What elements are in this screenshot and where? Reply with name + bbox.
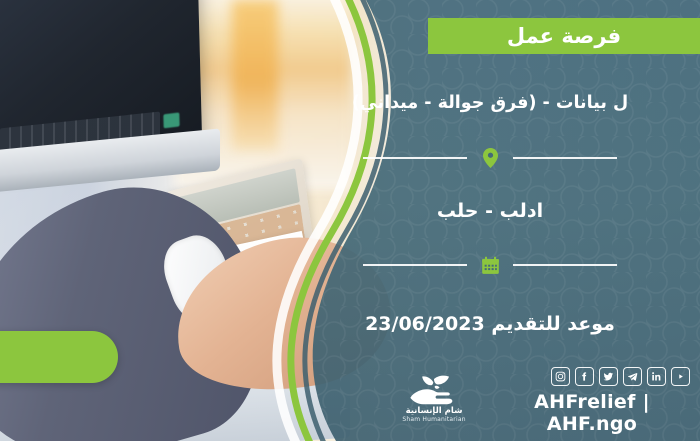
divider-line-right-2 [363, 264, 467, 266]
job-opportunity-ribbon: فرصة عمل [428, 18, 700, 54]
job-opportunity-poster: فرصة عمل ل بيانات - (فرق جوالة - ميداني)… [0, 0, 700, 441]
apply-now-button[interactable]: تقدم الآ [0, 331, 118, 383]
poster-content: فرصة عمل ل بيانات - (فرق جوالة - ميداني)… [280, 0, 700, 441]
hand-with-leaves-logo-icon [408, 375, 460, 405]
social-links[interactable] [551, 367, 690, 386]
divider-line-left [513, 157, 617, 159]
linkedin-icon[interactable] [647, 367, 666, 386]
location-divider-row [280, 149, 700, 167]
location-pin-icon [479, 146, 501, 170]
youtube-icon[interactable] [671, 367, 690, 386]
divider-line-right [363, 157, 467, 159]
ribbon-label: فرصة عمل [507, 24, 621, 48]
deadline-divider-row [280, 256, 700, 274]
instagram-icon[interactable] [551, 367, 570, 386]
organization-logo: شام الإنسانية Sham Humanitarian [390, 369, 478, 423]
facebook-icon[interactable] [575, 367, 594, 386]
job-title: ل بيانات - (فرق جوالة - ميداني) [280, 93, 700, 113]
telegram-icon[interactable] [623, 367, 642, 386]
org-name-ar: شام الإنسانية [406, 406, 463, 416]
divider-line-left-2 [513, 264, 617, 266]
social-handles: AHFrelief | AHF.ngo [492, 391, 692, 435]
org-name-en: Sham Humanitarian [402, 416, 465, 423]
location-value: ادلب - حلب [280, 200, 700, 222]
calendar-icon [479, 253, 501, 277]
deadline-value: موعد للتقديم 23/06/2023 [280, 313, 700, 335]
poster-footer: شام الإنسانية Sham Humanitarian [280, 367, 700, 425]
twitter-icon[interactable] [599, 367, 618, 386]
